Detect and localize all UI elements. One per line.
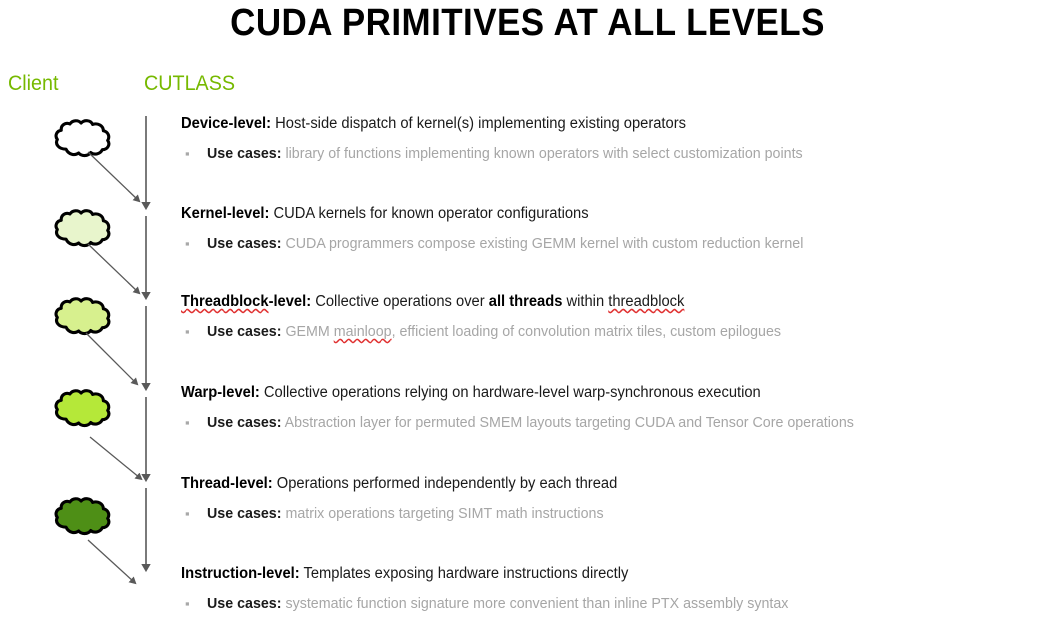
- level-lead-device: Device-level:: [181, 115, 271, 132]
- level-title-device: Device-level: Host-side dispatch of kern…: [181, 114, 1011, 134]
- level-lead-instruction: Instruction-level:: [181, 565, 300, 582]
- level-lead-threadblock: Threadblock: [181, 293, 269, 310]
- usecase-label-device: Use cases:: [207, 145, 281, 162]
- usecase-label-threadblock: Use cases:: [207, 323, 281, 340]
- level-lead-warp: Warp-level:: [181, 384, 260, 401]
- level-rest-b-threadblock: within: [562, 293, 608, 310]
- level-lead-kernel: Kernel-level:: [181, 205, 269, 222]
- usecase-text-kernel: Use cases: CUDA programmers compose exis…: [207, 234, 803, 254]
- level-block-instruction: Instruction-level: Templates exposing ha…: [181, 564, 1055, 614]
- usecase-body-a-threadblock: GEMM: [281, 323, 333, 340]
- level-rest-thread: Operations performed independently by ea…: [273, 475, 618, 492]
- cloud-device-icon: [52, 116, 114, 162]
- bullet-icon: ▪: [185, 322, 207, 342]
- level-rest-warp: Collective operations relying on hardwar…: [260, 384, 761, 401]
- usecase-body-b-threadblock: , efficient loading of convolution matri…: [392, 323, 781, 340]
- level-rest-instruction: Templates exposing hardware instructions…: [300, 565, 629, 582]
- level-title-instruction: Instruction-level: Templates exposing ha…: [181, 564, 1011, 584]
- usecase-label-instruction: Use cases:: [207, 595, 281, 612]
- cloud-kernel-icon: [52, 206, 114, 252]
- bullet-icon: ▪: [185, 234, 207, 254]
- page-title: CUDA PRIMITIVES AT ALL LEVELS: [42, 2, 1013, 45]
- usecase-body-instruction: systematic function signature more conve…: [281, 595, 788, 612]
- usecase-label-warp: Use cases:: [207, 414, 281, 431]
- usecase-text-threadblock: Use cases: GEMM mainloop, efficient load…: [207, 322, 781, 342]
- usecase-label-thread: Use cases:: [207, 505, 281, 522]
- column-heading-client: Client: [8, 72, 58, 96]
- level-rest-kernel: CUDA kernels for known operator configur…: [269, 205, 588, 222]
- usecase-label-kernel: Use cases:: [207, 235, 281, 252]
- level-title-threadblock: Threadblock-level: Collective operations…: [181, 292, 1011, 312]
- column-heading-cutlass: CUTLASS: [144, 72, 235, 96]
- cloud-threadblock-icon: [52, 294, 114, 340]
- level-block-kernel: Kernel-level: CUDA kernels for known ope…: [181, 204, 1055, 254]
- bullet-icon: ▪: [185, 144, 207, 164]
- level-lead-suffix-threadblock: -level:: [269, 293, 312, 310]
- cloud-thread-icon: [52, 494, 114, 540]
- cloud-warp-icon: [52, 386, 114, 432]
- level-title-thread: Thread-level: Operations performed indep…: [181, 474, 1011, 494]
- level-rest-emph-threadblock: all threads: [489, 293, 563, 310]
- level-title-warp: Warp-level: Collective operations relyin…: [181, 383, 1011, 403]
- usecase-text-warp: Use cases: Abstraction layer for permute…: [207, 413, 854, 433]
- level-rest-a-threadblock: Collective operations over: [311, 293, 489, 310]
- bullet-icon: ▪: [185, 594, 207, 614]
- usecase-row-device: ▪Use cases: library of functions impleme…: [181, 144, 1055, 164]
- usecase-body-kernel: CUDA programmers compose existing GEMM k…: [281, 235, 803, 252]
- level-block-thread: Thread-level: Operations performed indep…: [181, 474, 1055, 524]
- usecase-body-warp: Abstraction layer for permuted SMEM layo…: [281, 414, 853, 431]
- bullet-icon: ▪: [185, 504, 207, 524]
- level-block-device: Device-level: Host-side dispatch of kern…: [181, 114, 1055, 164]
- usecase-row-thread: ▪Use cases: matrix operations targeting …: [181, 504, 1055, 524]
- usecase-text-device: Use cases: library of functions implemen…: [207, 144, 803, 164]
- usecase-text-instruction: Use cases: systematic function signature…: [207, 594, 788, 614]
- level-block-warp: Warp-level: Collective operations relyin…: [181, 383, 1055, 433]
- usecase-row-warp: ▪Use cases: Abstraction layer for permut…: [181, 413, 1055, 433]
- level-lead-thread: Thread-level:: [181, 475, 273, 492]
- bullet-icon: ▪: [185, 413, 207, 433]
- client-cloud-column: [0, 100, 175, 637]
- level-rest-device: Host-side dispatch of kernel(s) implemen…: [271, 115, 686, 132]
- usecase-row-kernel: ▪Use cases: CUDA programmers compose exi…: [181, 234, 1055, 254]
- usecase-spell-threadblock: mainloop: [334, 323, 392, 340]
- usecase-body-thread: matrix operations targeting SIMT math in…: [281, 505, 603, 522]
- level-block-threadblock: Threadblock-level: Collective operations…: [181, 292, 1055, 342]
- level-title-kernel: Kernel-level: CUDA kernels for known ope…: [181, 204, 1011, 224]
- usecase-body-device: library of functions implementing known …: [281, 145, 802, 162]
- usecase-row-instruction: ▪Use cases: systematic function signatur…: [181, 594, 1055, 614]
- level-rest-spell-threadblock: threadblock: [608, 293, 684, 310]
- usecase-row-threadblock: ▪Use cases: GEMM mainloop, efficient loa…: [181, 322, 1055, 342]
- usecase-text-thread: Use cases: matrix operations targeting S…: [207, 504, 604, 524]
